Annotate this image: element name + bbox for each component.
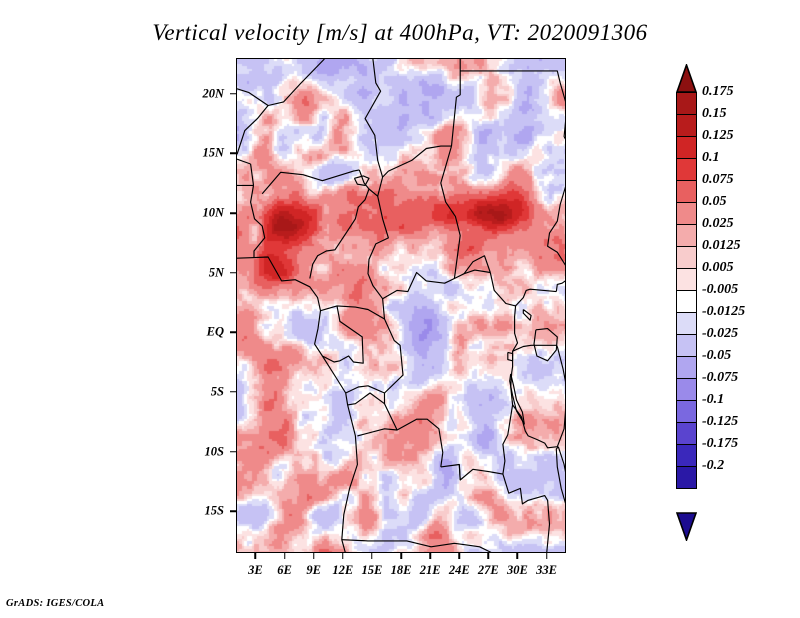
border-line: [357, 419, 442, 467]
colorbar-band: 0.05: [676, 202, 697, 225]
colorbar-band: 0.0125: [676, 246, 697, 269]
border-line: [346, 386, 385, 404]
colorbar-tick-label: 0.1: [702, 150, 720, 166]
border-line: [383, 299, 403, 393]
x-tick-label: 33E: [536, 563, 557, 578]
y-tick-label: 15S: [194, 504, 224, 519]
page-title: Vertical velocity [m/s] at 400hPa, VT: 2…: [0, 20, 800, 46]
colorbar-band: -0.075: [676, 378, 697, 401]
border-line: [513, 289, 558, 351]
x-tick-label: 12E: [332, 563, 353, 578]
x-tick-mark: [313, 553, 315, 559]
colorbar-band: 0.005: [676, 268, 697, 291]
border-line: [441, 146, 460, 278]
x-tick-label: 9E: [306, 563, 321, 578]
colorbar-tick-label: -0.05: [702, 348, 731, 364]
colorbar-tick-label: -0.075: [702, 370, 738, 386]
x-tick-mark: [400, 553, 402, 559]
colorbar-top-arrow: [676, 64, 697, 93]
colorbar-band: 0.1: [676, 158, 697, 181]
border-line: [262, 170, 359, 194]
colorbar-band: -0.175: [676, 444, 697, 467]
colorbar-tick-label: 0.175: [702, 84, 734, 100]
colorbar-band: 0.15: [676, 114, 697, 137]
x-tick-label: 3E: [248, 563, 263, 578]
colorbar-tick-label: 0.005: [702, 260, 734, 276]
border-line: [237, 159, 251, 164]
border-line: [310, 170, 369, 279]
x-tick-mark: [429, 553, 431, 559]
border-line: [508, 352, 513, 360]
x-tick-mark: [517, 553, 519, 559]
border-line: [251, 164, 254, 185]
x-tick-label: 24E: [449, 563, 470, 578]
map-plot-area[interactable]: [236, 58, 566, 553]
colorbar-bottom-arrow: [676, 512, 697, 541]
x-tick-label: 6E: [277, 563, 292, 578]
border-line: [365, 59, 383, 177]
y-tick-label: 10N: [194, 206, 224, 221]
x-tick-label: 30E: [507, 563, 528, 578]
border-line: [321, 306, 385, 319]
x-tick-mark: [458, 553, 460, 559]
colorbar-tick-label: 0.075: [702, 172, 734, 188]
colorbar-tick-label: 0.125: [702, 128, 734, 144]
colorbar-tick-label: -0.2: [702, 458, 724, 474]
border-line: [348, 393, 398, 430]
colorbar-tick-label: 0.0125: [702, 238, 741, 254]
colorbar-band: 0.125: [676, 136, 697, 159]
border-line: [556, 447, 566, 505]
x-tick-mark: [255, 553, 257, 559]
colorbar-band: 0.075: [676, 180, 697, 203]
border-line: [548, 107, 566, 274]
border-line: [342, 540, 494, 553]
x-tick-mark: [546, 553, 548, 559]
y-tick-label: 5N: [194, 265, 224, 280]
y-tick-label: 15N: [194, 146, 224, 161]
x-tick-label: 18E: [391, 563, 412, 578]
colorbar-tick-label: -0.175: [702, 436, 738, 452]
x-tick-mark: [371, 553, 373, 559]
colorbar-tick-label: 0.025: [702, 216, 734, 232]
colorbar-band: 0.175: [676, 92, 697, 115]
x-tick-label: 21E: [420, 563, 441, 578]
border-line: [503, 405, 550, 553]
border-line: [523, 310, 531, 321]
x-tick-mark: [284, 553, 286, 559]
border-line: [441, 465, 503, 481]
border-line: [237, 59, 324, 106]
border-line: [534, 329, 557, 361]
border-line: [237, 106, 268, 155]
colorbar-tick-label: 0.05: [702, 194, 727, 210]
y-tick-label: EQ: [194, 325, 224, 340]
colorbar-band: -0.2: [676, 466, 697, 489]
border-line: [251, 185, 265, 257]
colorbar-band: -0.05: [676, 356, 697, 379]
colorbar[interactable]: 0.1750.150.1250.10.0750.050.0250.01250.0…: [676, 92, 697, 488]
border-line: [452, 59, 461, 146]
border-line: [368, 196, 490, 299]
y-tick-label: 10S: [194, 444, 224, 459]
x-tick-mark: [342, 553, 344, 559]
colorbar-tick-label: -0.0125: [702, 304, 745, 320]
border-line: [511, 347, 566, 448]
colorbar-band: -0.125: [676, 422, 697, 445]
colorbar-band: -0.005: [676, 290, 697, 313]
y-tick-label: 5S: [194, 384, 224, 399]
colorbar-tick-label: -0.005: [702, 282, 738, 298]
border-line: [460, 71, 566, 107]
grads-credit: GrADS: IGES/COLA: [6, 598, 104, 609]
colorbar-band: -0.1: [676, 400, 697, 423]
x-tick-label: 27E: [478, 563, 499, 578]
border-line: [490, 273, 515, 306]
colorbar-tick-label: 0.15: [702, 106, 727, 122]
border-line: [556, 268, 566, 292]
colorbar-tick-label: -0.1: [702, 392, 724, 408]
border-line: [322, 306, 363, 363]
x-tick-label: 15E: [361, 563, 382, 578]
colorbar-tick-label: -0.125: [702, 414, 738, 430]
colorbar-band: 0.025: [676, 224, 697, 247]
y-tick-label: 20N: [194, 86, 224, 101]
x-tick-mark: [488, 553, 490, 559]
border-line: [237, 257, 357, 553]
border-line: [459, 465, 460, 481]
colorbar-band: -0.0125: [676, 312, 697, 335]
country-borders-overlay: [237, 59, 566, 553]
colorbar-band: -0.025: [676, 334, 697, 357]
colorbar-tick-label: -0.025: [702, 326, 738, 342]
